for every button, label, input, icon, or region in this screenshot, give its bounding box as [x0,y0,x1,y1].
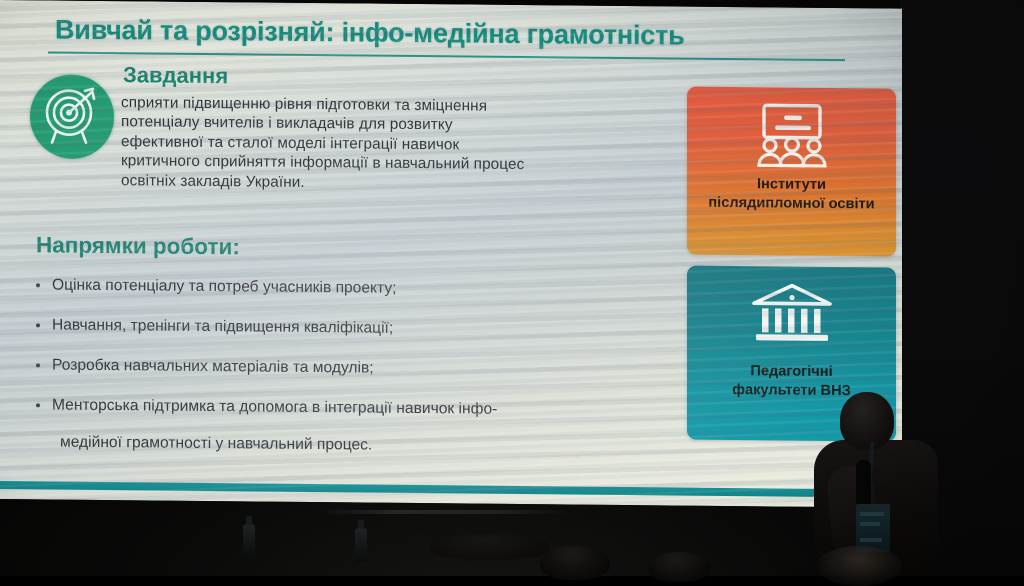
list-item: Розробка навчальних матеріалів та модулі… [30,355,690,381]
bottle [243,524,255,558]
card-institutes-postgraduate: Інститути післядипломної освіти [687,87,896,257]
task-body: сприяти підвищенню рівня підготовки та з… [121,93,666,195]
audience-head [430,534,550,560]
list-item-text: Розробка навчальних матеріалів та модулі… [52,356,374,376]
classical-building-icon [687,278,896,352]
audience-head [648,552,710,582]
auditorium-background: Вивчай та розрізняй: інфо-медійна грамот… [0,0,1024,576]
list-item-text: Оцінка потенціалу та потреб учасників пр… [52,276,396,296]
list-item-text: Навчання, тренінги та підвищення кваліфі… [52,316,393,336]
list-item: Оцінка потенціалу та потреб учасників пр… [30,275,690,301]
list-item: Менторська підтримка та допомога в інтег… [30,395,690,458]
card-label-line1: Педагогічні [691,362,892,383]
card-label-line2: післядипломної освіти [691,194,892,215]
audience-head [540,546,610,580]
directions-heading: Напрямки роботи: [36,232,240,260]
projection-screen: Вивчай та розрізняй: інфо-медійна грамот… [0,0,902,508]
audience-head-highlighted [816,546,902,586]
card-label-line1: Інститути [691,175,892,196]
task-body-line: освітніх закладів України. [121,171,666,196]
bottle [355,528,367,562]
table-edge [320,510,570,514]
task-heading: Завдання [123,62,228,89]
target-icon [30,74,114,159]
slide-content: Вивчай та розрізняй: інфо-медійна грамот… [0,0,902,508]
list-item-continuation: медійної грамотності у навчальний процес… [60,433,690,459]
list-item-text: Менторська підтримка та допомога в інтег… [52,396,497,417]
speaker-head [840,392,894,450]
slide-title: Вивчай та розрізняй: інфо-медійна грамот… [55,15,855,54]
slide-footer-bar [0,481,902,498]
directions-list: Оцінка потенціалу та потреб учасників пр… [30,275,690,478]
presentation-board-with-audience-icon [687,99,896,173]
title-underline-rule [48,51,845,61]
card-label: Інститути післядипломної освіти [691,175,892,215]
list-item: Навчання, тренінги та підвищення кваліфі… [30,315,690,341]
